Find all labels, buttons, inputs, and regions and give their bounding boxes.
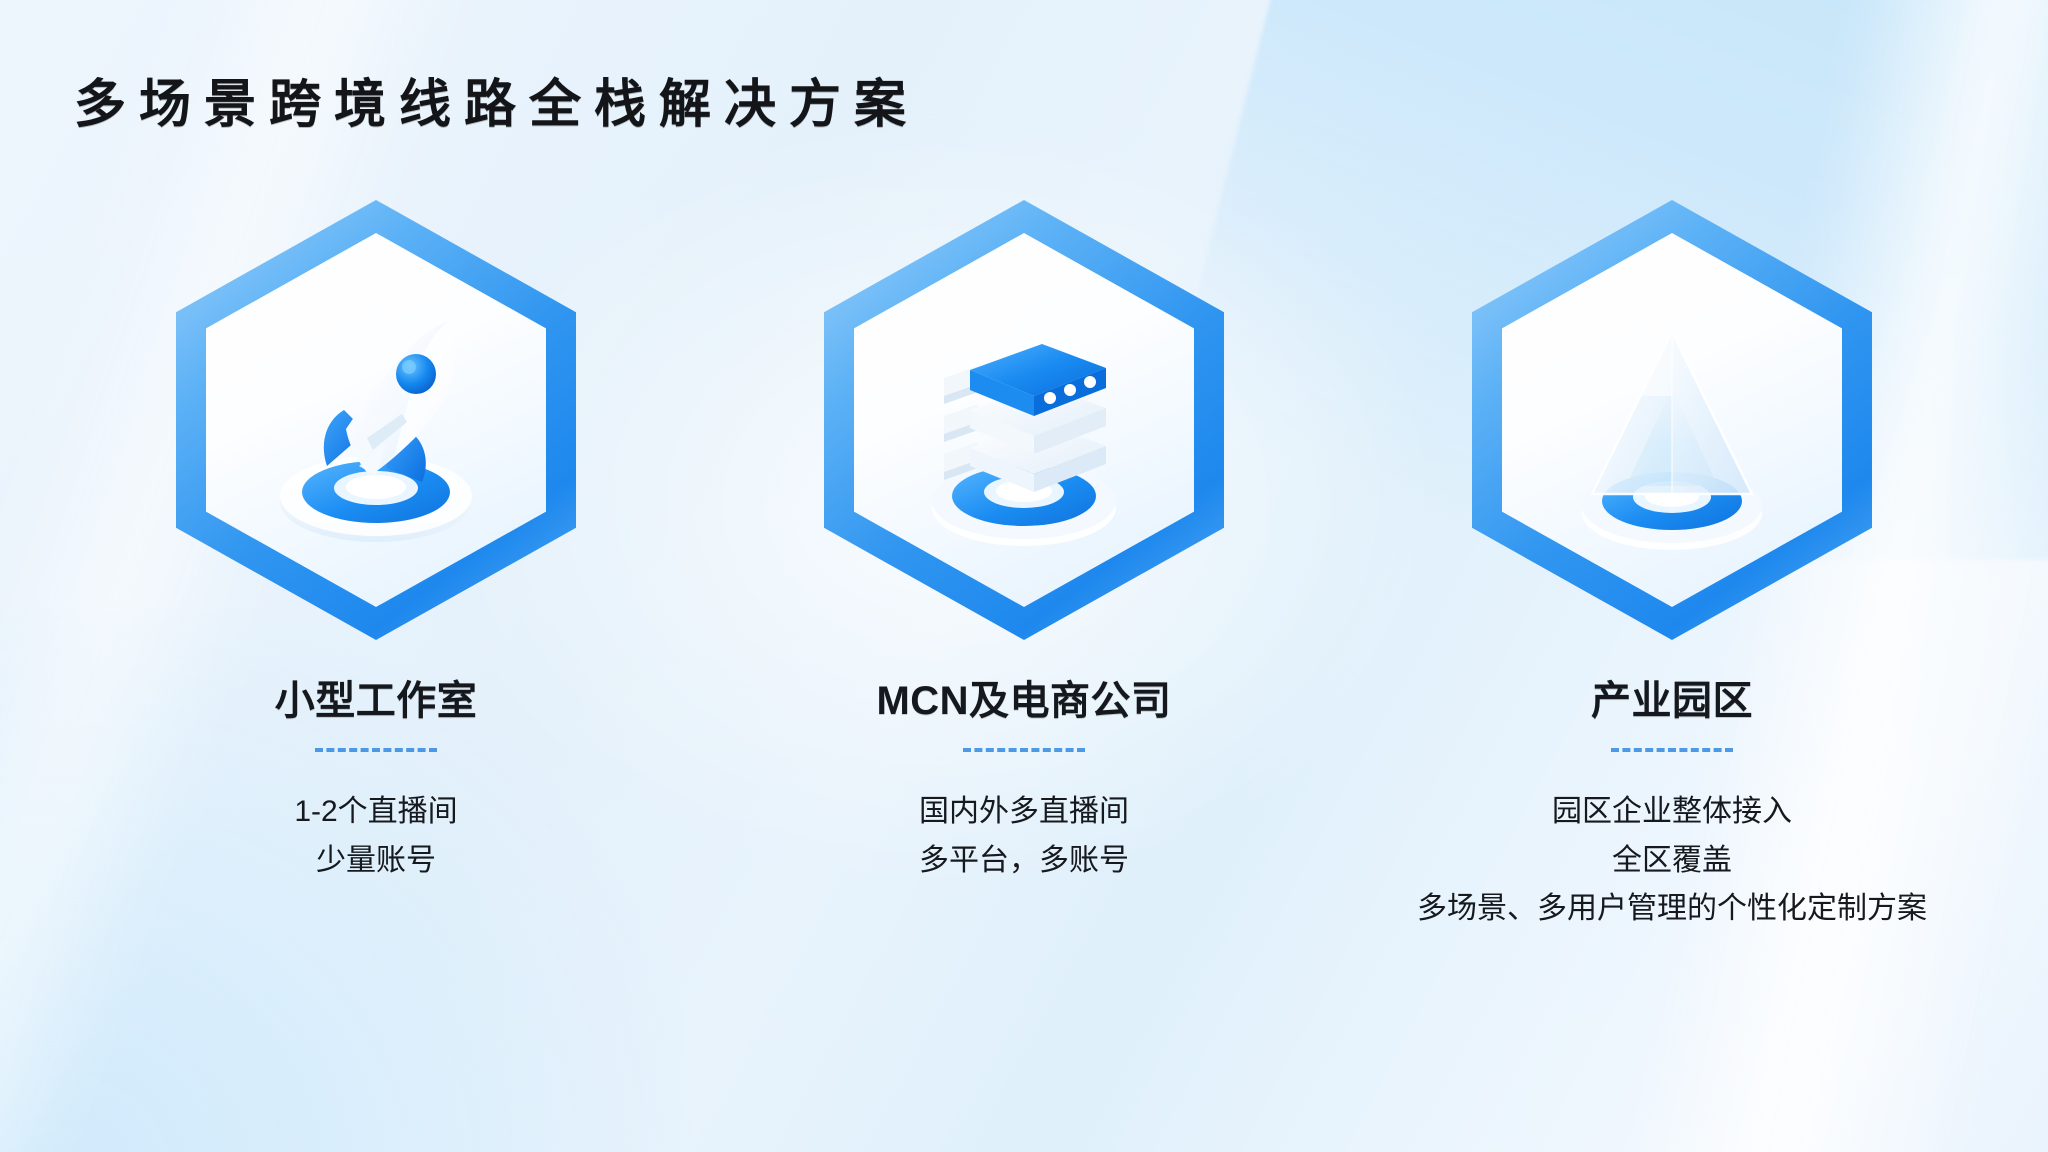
card-divider (1611, 748, 1733, 752)
card-description: 园区企业整体接入 全区覆盖 多场景、多用户管理的个性化定制方案 (1417, 788, 1927, 934)
card-description-line: 1-2个直播间 (294, 788, 457, 837)
scenario-card-mcn-ecommerce[interactable]: MCN及电商公司 国内外多直播间 多平台，多账号 (754, 200, 1294, 885)
scenario-card-row: 小型工作室 1-2个直播间 少量账号 (0, 200, 2048, 934)
server-stack-icon (824, 200, 1224, 640)
card-description-line: 少量账号 (294, 837, 457, 886)
hexagon-badge-2 (824, 200, 1224, 640)
page-title: 多场景跨境线路全栈解决方案 (74, 62, 919, 137)
card-description-line: 国内外多直播间 (919, 788, 1129, 837)
card-divider (315, 748, 437, 752)
card-description: 国内外多直播间 多平台，多账号 (919, 788, 1129, 885)
card-description-line: 多平台，多账号 (919, 837, 1129, 886)
scenario-card-small-studio[interactable]: 小型工作室 1-2个直播间 少量账号 (106, 200, 646, 885)
card-divider (963, 748, 1085, 752)
rocket-icon (176, 200, 576, 640)
card-description-line: 全区覆盖 (1417, 837, 1927, 886)
glass-pyramid-icon (1472, 200, 1872, 640)
card-title: 产业园区 (1591, 668, 1753, 726)
card-title: 小型工作室 (275, 668, 478, 726)
card-description: 1-2个直播间 少量账号 (294, 788, 457, 885)
hexagon-badge-3 (1472, 200, 1872, 640)
card-title: MCN及电商公司 (876, 668, 1171, 726)
card-description-line: 多场景、多用户管理的个性化定制方案 (1417, 885, 1927, 934)
scenario-card-industrial-park[interactable]: 产业园区 园区企业整体接入 全区覆盖 多场景、多用户管理的个性化定制方案 (1402, 200, 1942, 934)
card-description-line: 园区企业整体接入 (1417, 788, 1927, 837)
hexagon-badge-1 (176, 200, 576, 640)
